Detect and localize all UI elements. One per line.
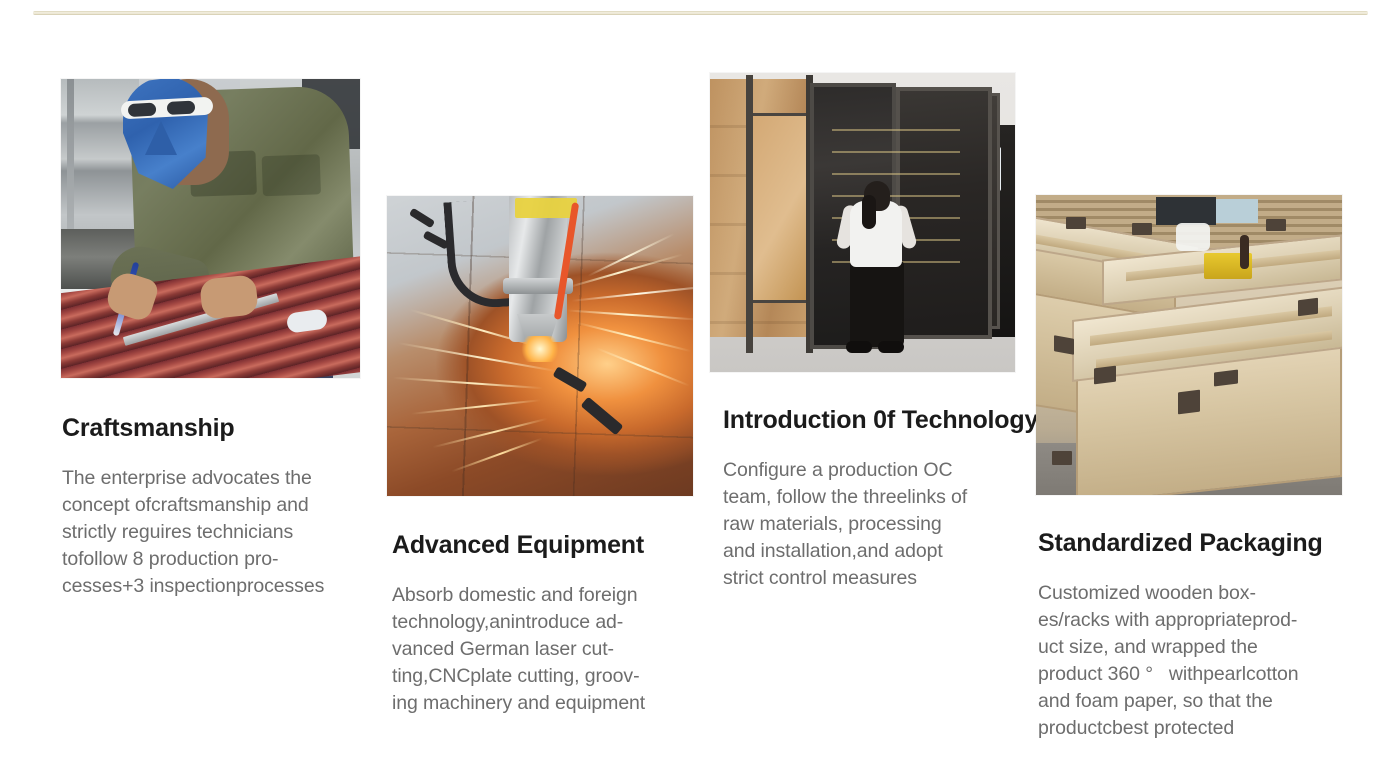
body-line: technology,anintroduce ad- bbox=[392, 609, 693, 636]
body-line: The enterprise advocates the bbox=[62, 465, 360, 492]
feature-card-standardized-packaging: Standardized Packaging Customized wooden… bbox=[1036, 195, 1342, 742]
card-title: Advanced Equipment bbox=[392, 530, 693, 560]
body-line: Absorb domestic and foreign bbox=[392, 582, 693, 609]
card-title: Standardized Packaging bbox=[1038, 528, 1342, 558]
slide-root: Craftsmanship The enterprise advocates t… bbox=[0, 0, 1394, 759]
card-body: The enterprise advocates the concept ofc… bbox=[62, 465, 360, 600]
showroom-door-installation-photo bbox=[710, 73, 1015, 372]
body-line: ting,CNCplate cutting, groov- bbox=[392, 663, 693, 690]
feature-card-advanced-equipment: Advanced Equipment Absorb domestic and f… bbox=[387, 196, 693, 717]
body-line: vanced German laser cut- bbox=[392, 636, 693, 663]
body-line: strictly reguires technicians bbox=[62, 519, 360, 546]
card-body: Absorb domestic and foreign technology,a… bbox=[392, 582, 693, 717]
body-line: uct size, and wrapped the bbox=[1038, 634, 1342, 661]
body-line: product 360 ° withpearlcotton bbox=[1038, 661, 1342, 688]
body-line: team, follow the threelinks of bbox=[723, 484, 1038, 511]
card-title: Introduction 0f Technology bbox=[723, 405, 1038, 435]
laser-cutting-machine-sparks-photo bbox=[387, 196, 693, 496]
feature-card-introduction-of-technology: Introduction 0f Technology Configure a p… bbox=[710, 73, 1038, 592]
card-body: Configure a production OC team, follow t… bbox=[723, 457, 1038, 592]
body-line: es/racks with appropriateprod- bbox=[1038, 607, 1342, 634]
body-line: Configure a production OC bbox=[723, 457, 1038, 484]
body-line: concept ofcraftsmanship and bbox=[62, 492, 360, 519]
body-line: and foam paper, so that the bbox=[1038, 688, 1342, 715]
body-line: raw materials, processing bbox=[723, 511, 1038, 538]
body-line: cesses+3 inspectionprocesses bbox=[62, 573, 360, 600]
wooden-crates-packaging-photo bbox=[1036, 195, 1342, 495]
card-title: Craftsmanship bbox=[62, 413, 360, 443]
card-body: Customized wooden box- es/racks with app… bbox=[1038, 580, 1342, 742]
body-line: Customized wooden box- bbox=[1038, 580, 1342, 607]
body-line: tofollow 8 production pro- bbox=[62, 546, 360, 573]
body-line: and installation,and adopt bbox=[723, 538, 1038, 565]
feature-card-craftsmanship: Craftsmanship The enterprise advocates t… bbox=[61, 79, 360, 600]
body-line: productcbest protected bbox=[1038, 715, 1342, 742]
top-divider-rule bbox=[33, 11, 1368, 15]
body-line: strict control measures bbox=[723, 565, 1038, 592]
body-line: ing machinery and equipment bbox=[392, 690, 693, 717]
worker-marking-steel-bars-photo bbox=[61, 79, 360, 378]
